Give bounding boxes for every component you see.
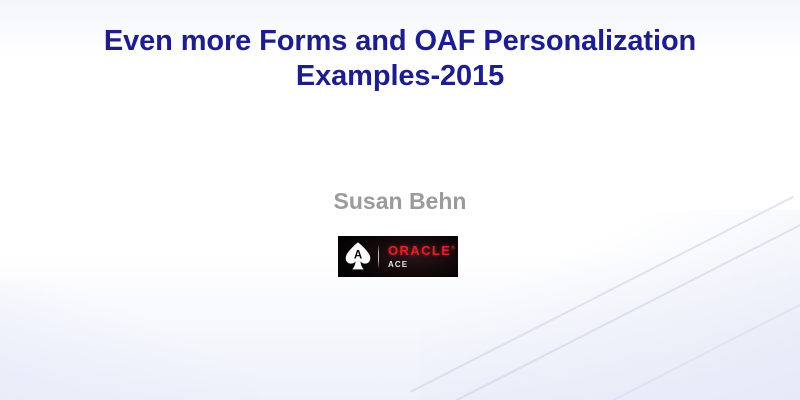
svg-text:A: A [354, 250, 362, 262]
presentation-slide: Even more Forms and OAF Personalization … [0, 0, 800, 400]
slide-title: Even more Forms and OAF Personalization … [60, 24, 740, 95]
logo-brand-word: ORACLE [388, 243, 451, 258]
registered-trademark-icon: ® [451, 246, 455, 252]
background-wash-bottom-right [420, 210, 800, 400]
logo-text-block: ORACLE® ACE [379, 244, 455, 269]
slide-title-line-1: Even more Forms and OAF Personalization [60, 24, 740, 59]
oracle-ace-logo-plate: A ORACLE® ACE [338, 236, 458, 277]
spade-icon: A [338, 236, 378, 277]
presenter-name: Susan Behn [0, 188, 800, 215]
decorative-swoosh-line [460, 281, 800, 400]
slide-title-line-2: Examples-2015 [60, 59, 740, 94]
decorative-swoosh-line [410, 195, 794, 392]
background-wash-bottom-left [0, 280, 260, 400]
logo-program-text: ACE [388, 261, 455, 269]
oracle-ace-logo: A ORACLE® ACE [338, 236, 458, 277]
logo-brand-text: ORACLE® [388, 244, 455, 257]
